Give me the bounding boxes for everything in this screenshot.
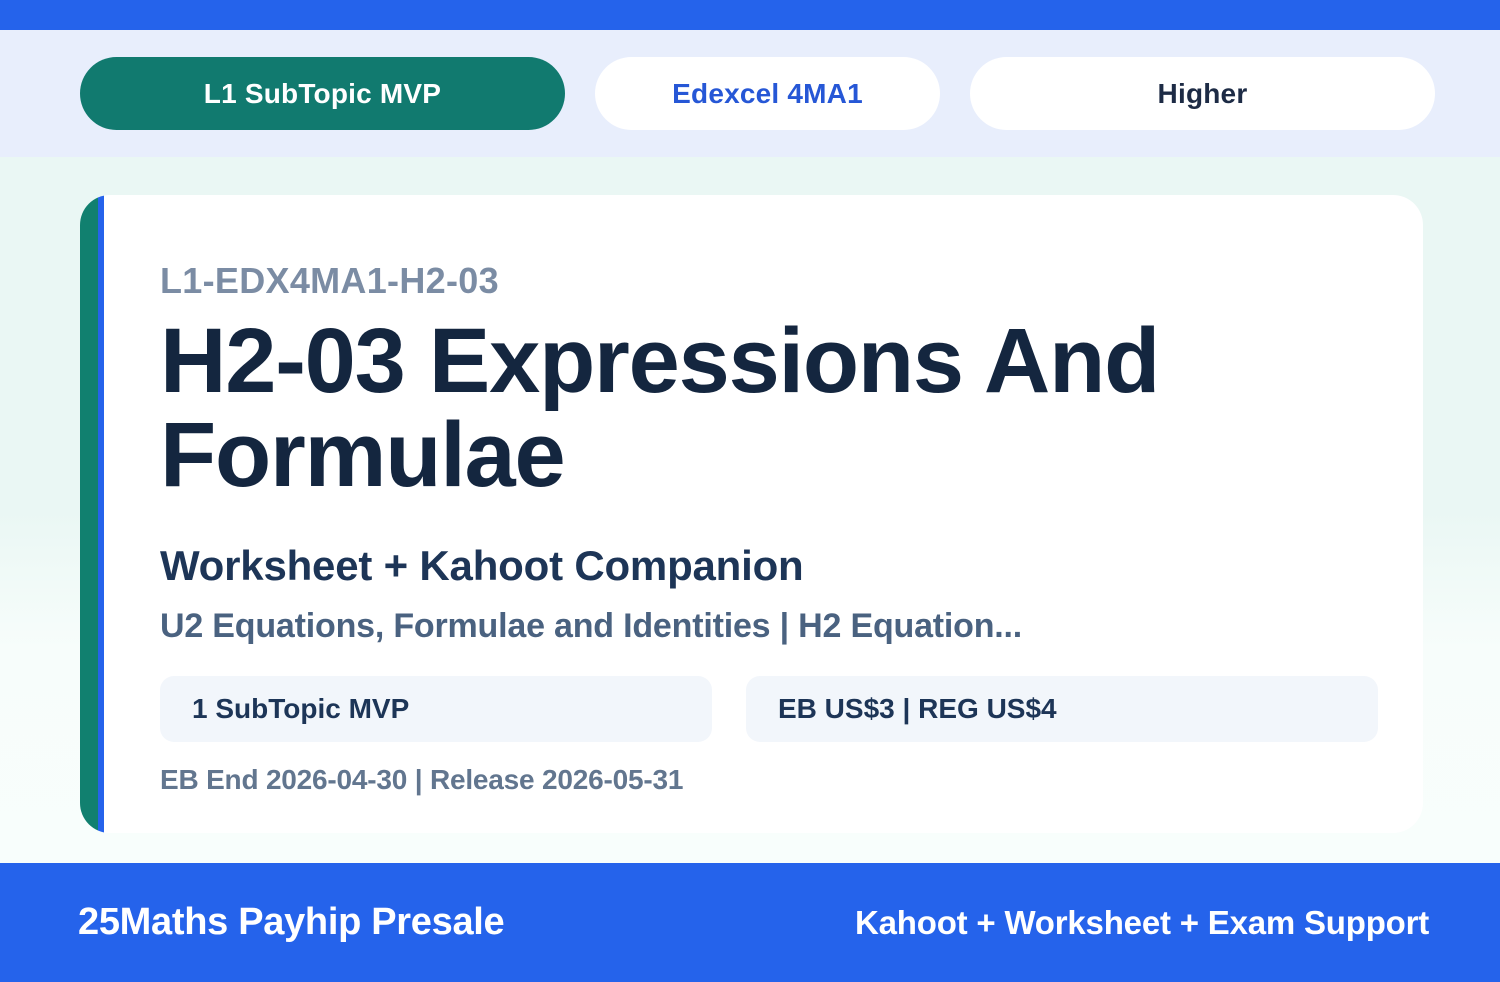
pill-tier[interactable]: Higher	[970, 57, 1435, 130]
header-pill-bar: L1 SubTopic MVP Edexcel 4MA1 Higher	[0, 30, 1500, 157]
card-body: L1-EDX4MA1-H2-03 H2-03 Expressions And F…	[160, 195, 1400, 833]
product-card[interactable]: L1-EDX4MA1-H2-03 H2-03 Expressions And F…	[80, 195, 1423, 833]
pill-tier-label: Higher	[1158, 78, 1248, 110]
product-subtitle: Worksheet + Kahoot Companion	[160, 543, 1400, 589]
release-dates: EB End 2026-04-30 | Release 2026-05-31	[160, 764, 1400, 796]
footer-brand-label: 25Maths Payhip Presale	[78, 901, 504, 944]
top-accent-strip	[0, 0, 1500, 30]
page-title: H2-03 Expressions And Formulae	[160, 315, 1280, 503]
product-code: L1-EDX4MA1-H2-03	[160, 263, 1400, 299]
pill-exam-board-label: Edexcel 4MA1	[672, 78, 863, 110]
chip-price-label: EB US$3 | REG US$4	[778, 693, 1057, 725]
chip-row: 1 SubTopic MVP EB US$3 | REG US$4	[160, 676, 1400, 742]
presale-card-page: L1 SubTopic MVP Edexcel 4MA1 Higher L1-E…	[0, 0, 1500, 982]
chip-scope: 1 SubTopic MVP	[160, 676, 712, 742]
footer-bar: 25Maths Payhip Presale Kahoot + Workshee…	[0, 863, 1500, 982]
pill-level-scope-label: L1 SubTopic MVP	[204, 78, 441, 110]
pill-level-scope[interactable]: L1 SubTopic MVP	[80, 57, 565, 130]
chip-price: EB US$3 | REG US$4	[746, 676, 1378, 742]
product-description: U2 Equations, Formulae and Identities | …	[160, 607, 1400, 646]
chip-scope-label: 1 SubTopic MVP	[192, 693, 409, 725]
card-accent-bar-blue	[98, 195, 104, 833]
pill-exam-board[interactable]: Edexcel 4MA1	[595, 57, 940, 130]
card-accent-bar-teal	[80, 195, 98, 833]
footer-tagline-label: Kahoot + Worksheet + Exam Support	[855, 904, 1429, 942]
